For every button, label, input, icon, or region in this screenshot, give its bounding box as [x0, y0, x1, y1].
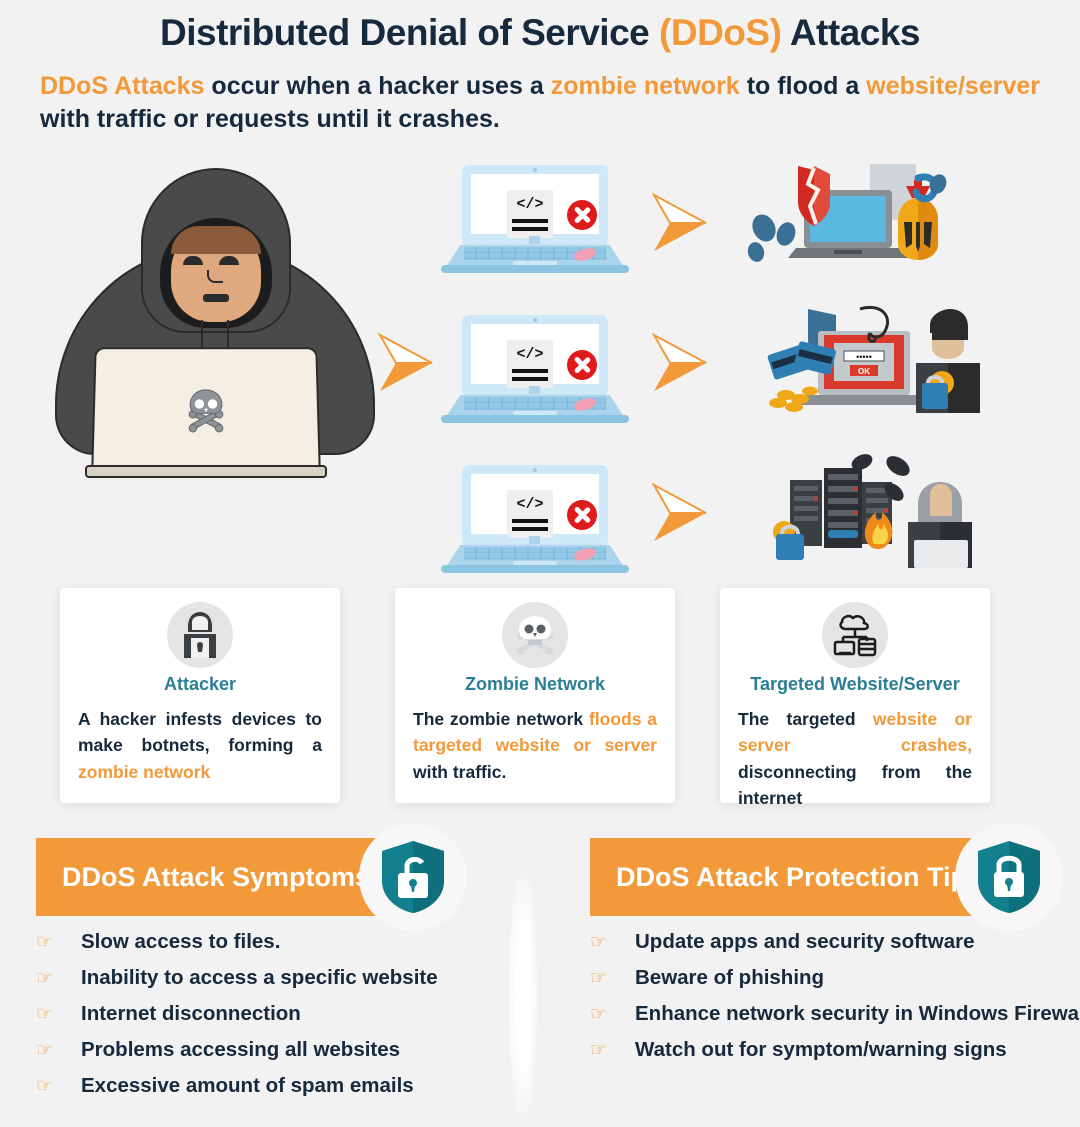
pointing-hand-icon: ☞: [36, 1005, 81, 1024]
code-document-icon: </>: [507, 340, 553, 388]
card-icon-wrap: [167, 602, 233, 668]
skull-and-crossbones-icon: [514, 614, 556, 656]
subtitle-seg-5: with traffic or requests until it crashe…: [40, 105, 500, 133]
list-item-label: Excessive amount of spam emails: [81, 1074, 414, 1098]
symptoms-heading: DDoS Attack Symptoms: [36, 862, 370, 893]
laptop-hinge: [529, 236, 540, 244]
code-line-2: [512, 527, 548, 531]
laptop-camera-icon: [533, 168, 537, 172]
card-zombie-network: Zombie Network The zombie network floods…: [395, 588, 675, 803]
card-targeted-website: Targeted Website/Server The targeted web…: [720, 588, 990, 803]
page-subtitle: DDoS Attacks occur when a hacker uses a …: [40, 70, 1040, 137]
laptop-hinge: [529, 386, 540, 394]
pointing-hand-icon: ☞: [36, 969, 81, 988]
list-item[interactable]: ☞Watch out for symptom/warning signs: [590, 1038, 1080, 1074]
laptop-base: [441, 265, 629, 273]
code-line-1: [512, 519, 548, 523]
subtitle-seg-0: DDoS Attacks: [40, 72, 204, 100]
error-x-icon: [567, 350, 597, 380]
arrow-right-icon-row-1: [652, 192, 708, 254]
card-body-seg-2: with traffic.: [413, 762, 506, 782]
victim-laptop-row-2: </>: [446, 315, 624, 423]
hacker-nose: [207, 270, 223, 283]
infographic-page: Distributed Denial of Service (DDoS) Att…: [0, 0, 1080, 1127]
list-item-label: Beware of phishing: [635, 966, 824, 990]
laptop-base: [441, 415, 629, 423]
card-body: A hacker infests devices to make botnets…: [78, 706, 322, 785]
card-icon-wrap: [502, 602, 568, 668]
shield-open-padlock-icon: [380, 840, 446, 914]
pointing-hand-icon: ☞: [590, 1005, 635, 1024]
code-symbol: </>: [507, 496, 553, 513]
code-symbol: </>: [507, 346, 553, 363]
pointing-hand-icon: ☞: [36, 1077, 81, 1096]
code-line-1: [512, 219, 548, 223]
card-title: Targeted Website/Server: [720, 674, 990, 695]
list-item[interactable]: ☞Excessive amount of spam emails: [36, 1074, 438, 1110]
list-item[interactable]: ☞Problems accessing all websites: [36, 1038, 438, 1074]
laptop-camera-icon: [533, 468, 537, 472]
ok-button-label: OK: [858, 367, 870, 376]
card-body-seg-1: zombie network: [78, 762, 210, 782]
code-document-icon: </>: [507, 190, 553, 238]
protection-tips-heading: DDoS Attack Protection Tips: [590, 862, 982, 893]
page-title-part2: Attacks: [781, 12, 920, 53]
hacker-hair: [171, 226, 261, 254]
card-body-seg-0: The targeted: [738, 709, 873, 729]
subtitle-seg-1: occur when a hacker uses a: [204, 72, 550, 100]
laptop-hinge: [529, 536, 540, 544]
skull-crossbones-icon: [187, 388, 225, 433]
victim-laptop-row-1: </>: [446, 165, 624, 273]
server-crash-scene-icon: [762, 450, 982, 570]
pointing-hand-icon: ☞: [36, 1041, 81, 1060]
attacker-illustration: [55, 160, 375, 485]
section-divider: [508, 870, 538, 1120]
laptop-camera-icon: [533, 318, 537, 322]
list-item-label: Enhance network security in Windows Fire…: [635, 1002, 1080, 1026]
card-attacker: Attacker A hacker infests devices to mak…: [60, 588, 340, 803]
error-x-icon: [567, 200, 597, 230]
subtitle-seg-3: to flood a: [740, 72, 867, 100]
cloud-server-network-icon: [833, 613, 877, 657]
password-dots: •••••: [856, 352, 872, 362]
hooded-attacker-icon: [180, 612, 220, 658]
list-item-label: Update apps and security software: [635, 930, 974, 954]
card-title: Attacker: [60, 674, 340, 695]
attacker-laptop-base: [85, 465, 327, 478]
arrow-right-icon-left: [378, 332, 434, 394]
list-item-label: Internet disconnection: [81, 1002, 301, 1026]
hacker-mouth: [203, 294, 229, 302]
arrow-right-icon-row-3: [652, 482, 708, 544]
laptop-screen: </>: [471, 324, 599, 384]
pointing-hand-icon: ☞: [590, 933, 635, 952]
card-body-seg-0: A hacker infests devices to make botnets…: [78, 709, 322, 755]
card-body-seg-0: The zombie network: [413, 709, 589, 729]
card-icon-wrap: [822, 602, 888, 668]
symptoms-shield-badge: [359, 823, 467, 931]
list-item-label: Problems accessing all websites: [81, 1038, 400, 1062]
victim-laptop-row-3: </>: [446, 465, 624, 573]
list-item[interactable]: ☞Internet disconnection: [36, 1002, 438, 1038]
subtitle-seg-2: zombie network: [551, 72, 740, 100]
protection-tips-shield-badge: [955, 823, 1063, 931]
symptoms-header: DDoS Attack Symptoms: [36, 838, 411, 916]
card-body-seg-2: disconnecting from the internet: [738, 762, 972, 808]
card-body: The targeted website or server crashes, …: [738, 706, 972, 811]
laptop-screen: </>: [471, 174, 599, 234]
page-title-part1: Distributed Denial of Service: [160, 12, 659, 53]
code-line-2: [512, 227, 548, 231]
protection-tips-list: ☞Update apps and security software☞Bewar…: [590, 930, 1080, 1074]
hacker-eye-left: [183, 256, 203, 265]
pointing-hand-icon: ☞: [590, 1041, 635, 1060]
phishing-theft-scene-icon: ••••• OK: [762, 305, 982, 423]
list-item-label: Watch out for symptom/warning signs: [635, 1038, 1007, 1062]
list-item[interactable]: ☞Enhance network security in Windows Fir…: [590, 1002, 1080, 1038]
malware-virus-scene-icon: [742, 160, 962, 280]
list-item-label: Inability to access a specific website: [81, 966, 438, 990]
arrow-right-icon-row-2: [652, 332, 708, 394]
pointing-hand-icon: ☞: [590, 969, 635, 988]
list-item[interactable]: ☞Slow access to files.: [36, 930, 438, 966]
subtitle-seg-4: website/server: [866, 72, 1040, 100]
card-body: The zombie network floods a targeted web…: [413, 706, 657, 785]
page-title: Distributed Denial of Service (DDoS) Att…: [0, 12, 1080, 54]
code-line-2: [512, 377, 548, 381]
error-x-icon: [567, 500, 597, 530]
list-item-label: Slow access to files.: [81, 930, 280, 954]
symptoms-list: ☞Slow access to files.☞Inability to acce…: [36, 930, 438, 1110]
card-title: Zombie Network: [395, 674, 675, 695]
shield-closed-padlock-icon: [976, 840, 1042, 914]
laptop-base: [441, 565, 629, 573]
list-item[interactable]: ☞Update apps and security software: [590, 930, 1080, 966]
laptop-screen: </>: [471, 474, 599, 534]
code-document-icon: </>: [507, 490, 553, 538]
list-item[interactable]: ☞Inability to access a specific website: [36, 966, 438, 1002]
list-item[interactable]: ☞Beware of phishing: [590, 966, 1080, 1002]
protection-tips-header: DDoS Attack Protection Tips: [590, 838, 1011, 916]
code-line-1: [512, 369, 548, 373]
hacker-eye-right: [219, 256, 239, 265]
pointing-hand-icon: ☞: [36, 933, 81, 952]
page-title-highlight: (DDoS): [659, 12, 781, 53]
code-symbol: </>: [507, 196, 553, 213]
